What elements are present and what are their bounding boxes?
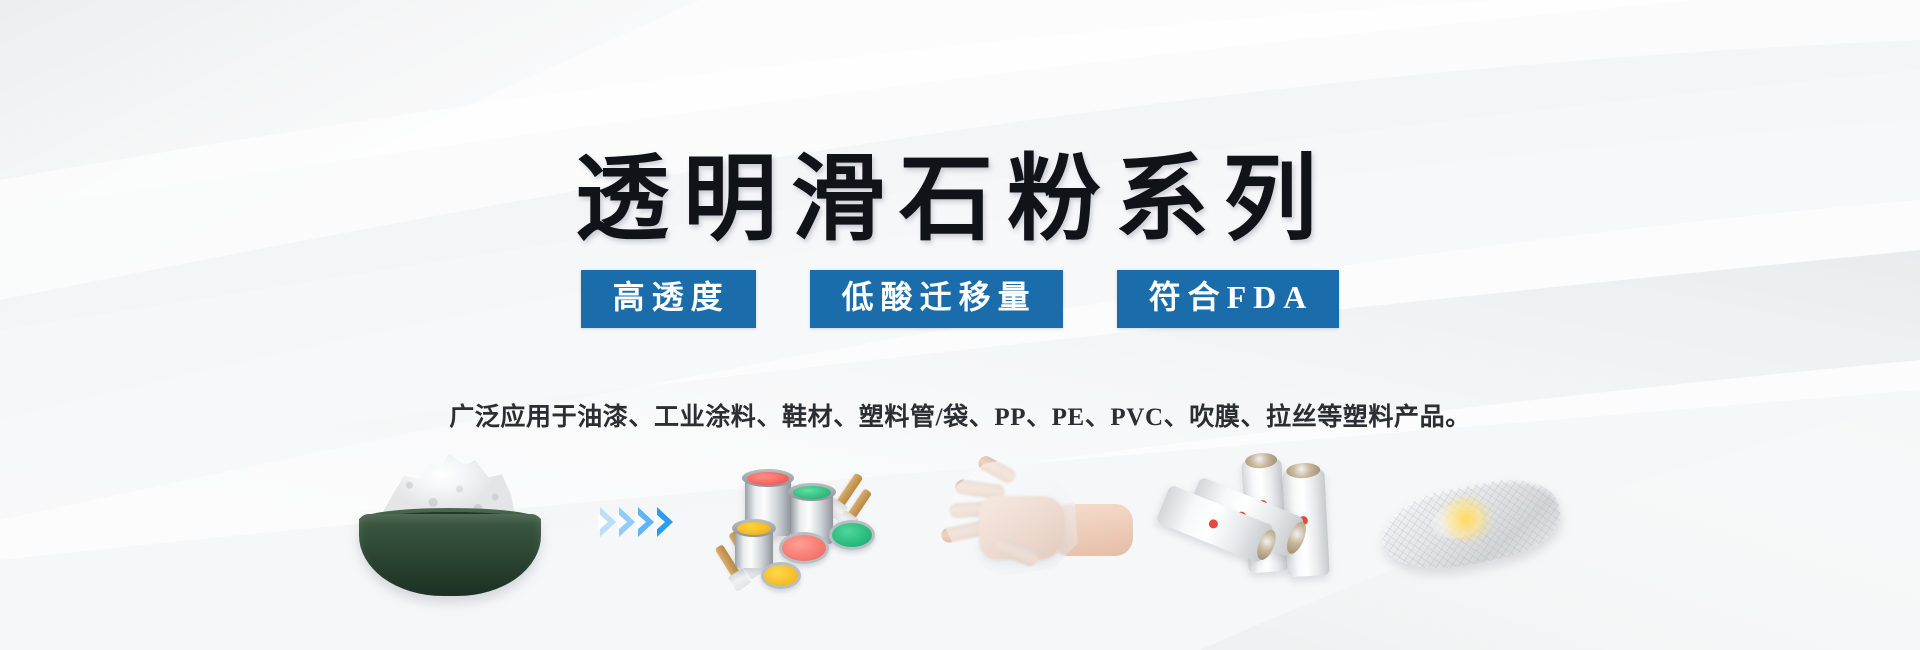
chevron-group [600,507,673,537]
chevron-right-icon [657,507,673,537]
badge-fda-compliant[interactable]: 符合FDA [1117,270,1340,328]
product-plastic-glove [933,442,1143,602]
chevron-right-icon [619,507,635,537]
plastic-film-rolls-icon [1149,452,1359,602]
paint-cans-icon [717,452,927,602]
talc-powder-bowl-icon [345,452,555,602]
badge-low-acid-migration[interactable]: 低酸迁移量 [810,270,1063,328]
product-shoe-sole [1365,442,1575,602]
paint-lid-red [779,532,829,564]
page-title: 透明滑石粉系列 [575,151,1345,250]
process-arrows [561,442,711,602]
plastic-glove-hand-icon [933,452,1143,602]
application-description: 广泛应用于油漆、工业涂料、鞋材、塑料管/袋、PP、PE、PVC、吹膜、拉丝等塑料… [449,397,1471,433]
product-image-strip [0,432,1920,602]
feature-badge-row: 高透度 低酸迁移量 符合FDA [0,270,1920,328]
paint-lid-yellow [761,562,801,589]
shoe-sole-icon [1365,452,1575,602]
glove-film-overlay [935,454,1087,578]
product-paint-cans [717,442,927,602]
badge-high-transparency[interactable]: 高透度 [581,270,756,328]
sole-highlight-glow [1439,496,1493,542]
paint-can-yellow [735,528,773,568]
chevron-right-icon [638,507,654,537]
product-film-rolls [1149,442,1359,602]
chevron-right-icon [600,507,616,537]
product-banner: 透明滑石粉系列 高透度 低酸迁移量 符合FDA 广泛应用于油漆、工业涂料、鞋材、… [0,0,1920,650]
product-talc-powder-bowl [345,442,555,602]
paint-lid-green [829,520,875,550]
bowl-body [359,514,541,596]
